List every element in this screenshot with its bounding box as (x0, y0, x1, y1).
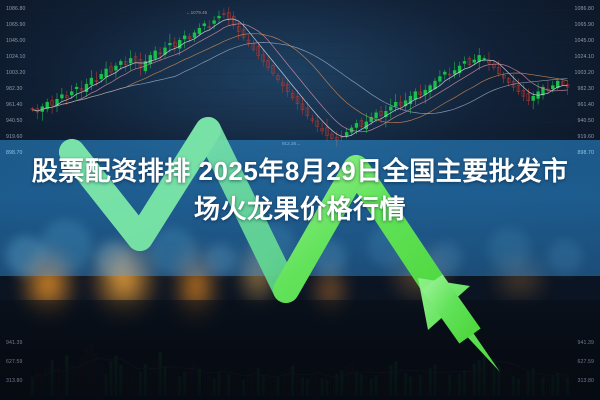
banner-image: 1086.80 1065.90 1045.00 1024.10 1003.20 … (0, 0, 600, 400)
banner-title: 股票配资排排 2025年8月29日全国主要批发市 场火龙果价格行情 (0, 152, 600, 228)
banner-title-line-1: 股票配资排排 2025年8月29日全国主要批发市 (14, 152, 586, 190)
banner-title-line-2: 场火龙果价格行情 (14, 190, 586, 228)
